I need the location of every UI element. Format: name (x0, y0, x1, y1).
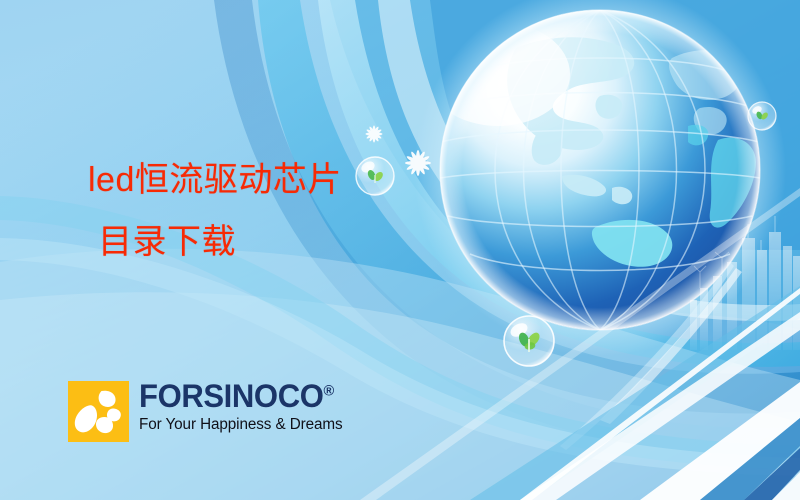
pinwheel-petals-icon (68, 381, 129, 442)
headline-line-1: led恒流驱动芯片 (88, 163, 418, 197)
company-logo: FORSINOCO® For Your Happiness & Dreams (68, 381, 346, 442)
starburst-small-icon (366, 126, 383, 143)
city-skyline-silhouette (690, 216, 800, 350)
diagonal-white-bands (470, 286, 800, 500)
bubble-pinwheel-lower (504, 316, 554, 366)
headline-line-2: 目录下载 (98, 225, 418, 259)
registered-trademark-icon: ® (323, 382, 334, 399)
bubble-pinwheel-right (748, 102, 776, 130)
logo-company-name: FORSINOCO® (139, 380, 339, 412)
marketing-banner: led恒流驱动芯片 目录下载 FORSINOCO® (0, 0, 800, 500)
logo-mark-square (68, 381, 129, 442)
logo-wordmark: FORSINOCO® For Your Happiness & Dreams (139, 380, 346, 433)
logo-tagline: For Your Happiness & Dreams (139, 417, 343, 433)
logo-company-name-text: FORSINOCO (139, 378, 323, 414)
headline-block: led恒流驱动芯片 目录下载 (88, 163, 418, 259)
globe-illustration (400, 0, 786, 356)
